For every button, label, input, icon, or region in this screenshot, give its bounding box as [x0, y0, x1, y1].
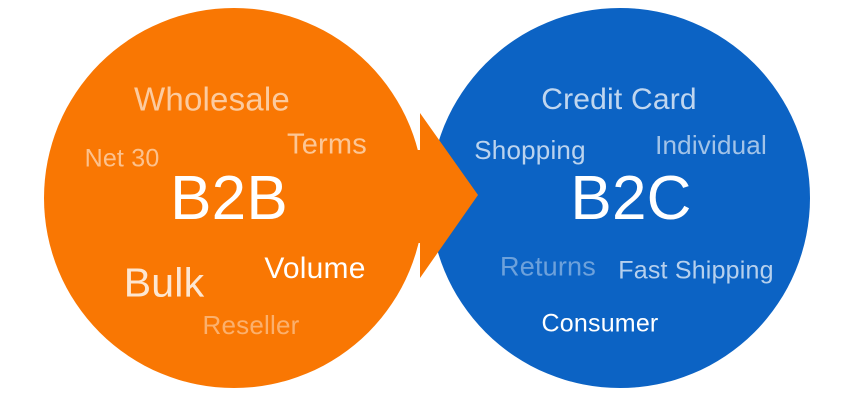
word-individual: Individual: [655, 132, 767, 158]
word-returns: Returns: [500, 254, 596, 281]
word-reseller: Reseller: [203, 312, 300, 338]
word-bulk: Bulk: [124, 263, 205, 304]
word-wholesale: Wholesale: [134, 83, 290, 116]
word-credit-card: Credit Card: [541, 85, 697, 115]
word-volume: Volume: [264, 254, 365, 284]
word-fast-shipping: Fast Shipping: [618, 259, 773, 284]
b2b-main-label: B2B: [170, 168, 288, 230]
b2c-main-label: B2C: [570, 168, 691, 230]
word-shopping: Shopping: [474, 137, 585, 163]
word-terms: Terms: [287, 131, 367, 160]
word-net-30: Net 30: [85, 147, 160, 172]
diagram-canvas: Wholesale Terms Net 30 B2B Bulk Volume R…: [0, 0, 860, 400]
word-consumer: Consumer: [542, 312, 659, 337]
